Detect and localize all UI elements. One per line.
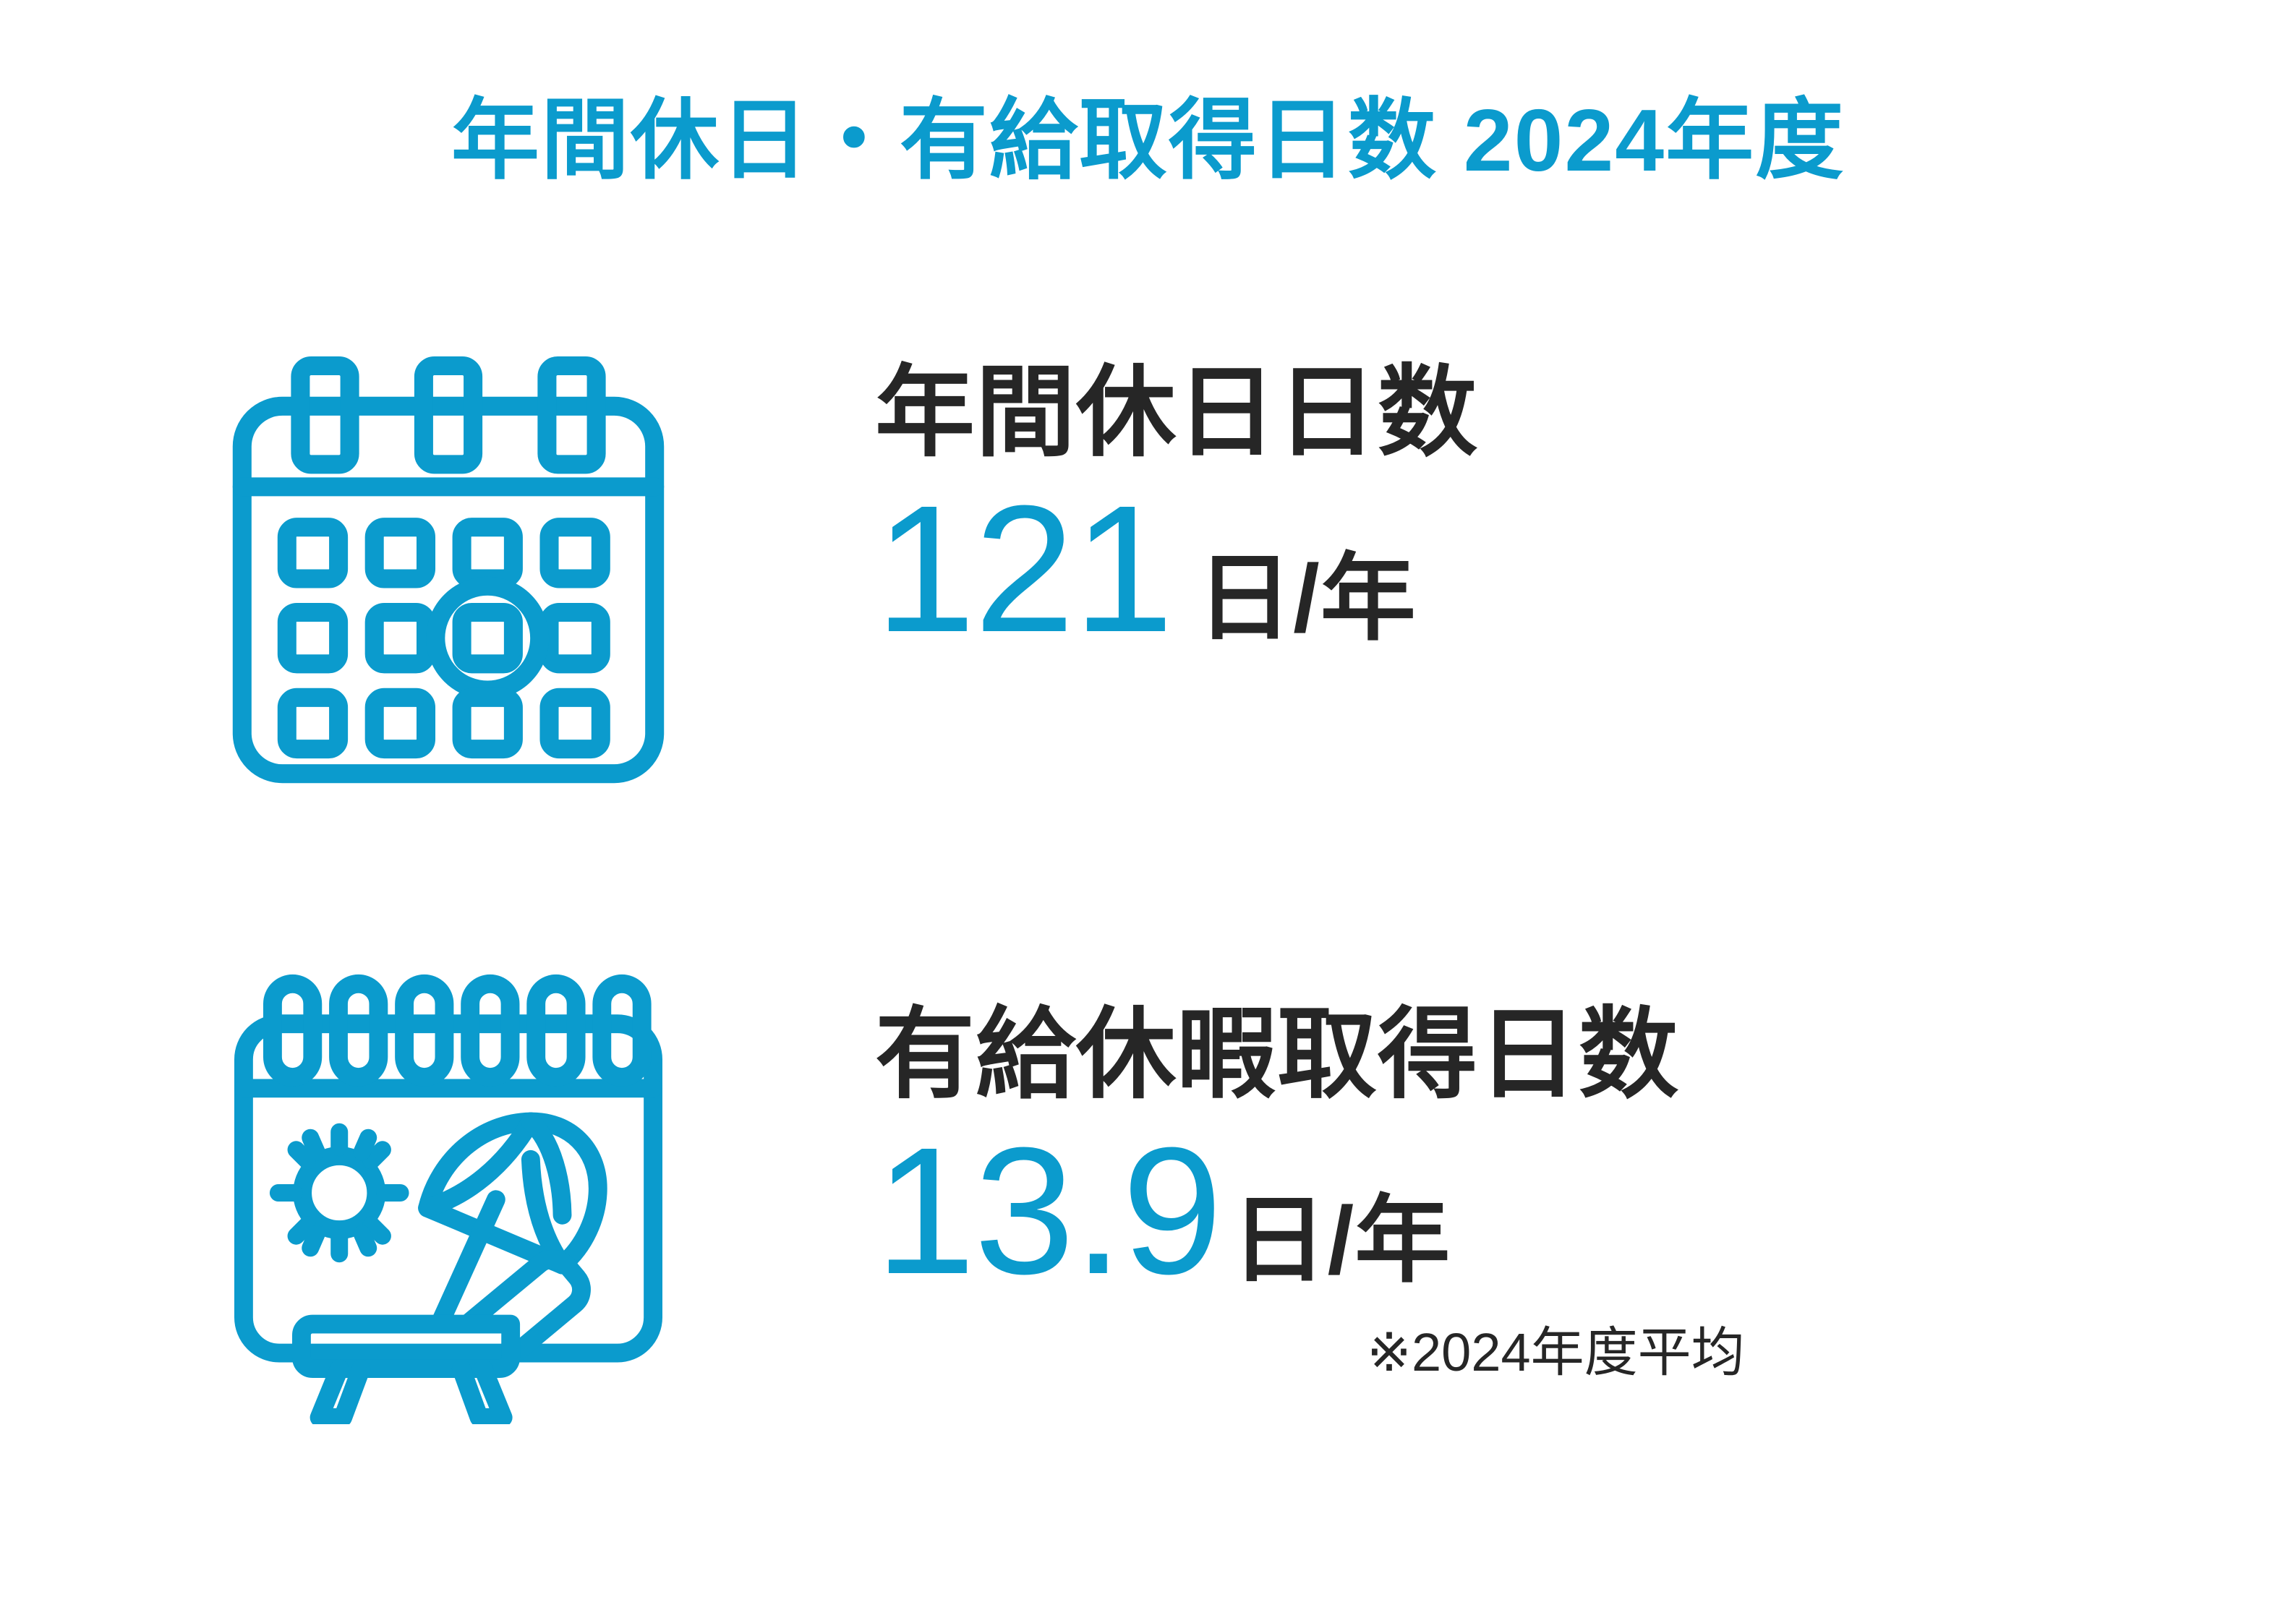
- stat-unit-paid-leave: 日/年: [1232, 1193, 1451, 1288]
- vacation-calendar-icon-cell: [0, 817, 875, 1424]
- paid-leave-text: 有給休暇取得日数 13.9 日/年 ※2024年度平均: [875, 817, 2296, 1379]
- page-title: 年間休日・有給取得日数 2024年度: [0, 85, 2296, 196]
- stat-note-paid-leave: ※2024年度平均: [1367, 1326, 1745, 1379]
- stat-value-line-annual-holidays: 121 日/年: [875, 479, 1417, 659]
- annual-holidays-text: 年間休日日数 121 日/年: [875, 311, 2296, 659]
- calendar-icon-cell: [0, 311, 875, 792]
- stat-label-annual-holidays: 年間休日日数: [875, 363, 1478, 463]
- stat-row-paid-leave: 有給休暇取得日数 13.9 日/年 ※2024年度平均: [0, 817, 2296, 1352]
- stat-row-annual-holidays: 年間休日日数 121 日/年: [0, 311, 2296, 817]
- stat-value-annual-holidays: 121: [875, 479, 1172, 659]
- calendar-icon: [224, 343, 673, 792]
- vacation-calendar-icon: [224, 962, 673, 1424]
- stat-value-paid-leave: 13.9: [875, 1121, 1221, 1301]
- stat-unit-annual-holidays: 日/年: [1197, 551, 1417, 646]
- stat-value-line-paid-leave: 13.9 日/年: [875, 1121, 1451, 1301]
- stats-container: 年間休日日数 121 日/年: [0, 311, 2296, 1352]
- stat-label-paid-leave: 有給休暇取得日数: [875, 1005, 1679, 1105]
